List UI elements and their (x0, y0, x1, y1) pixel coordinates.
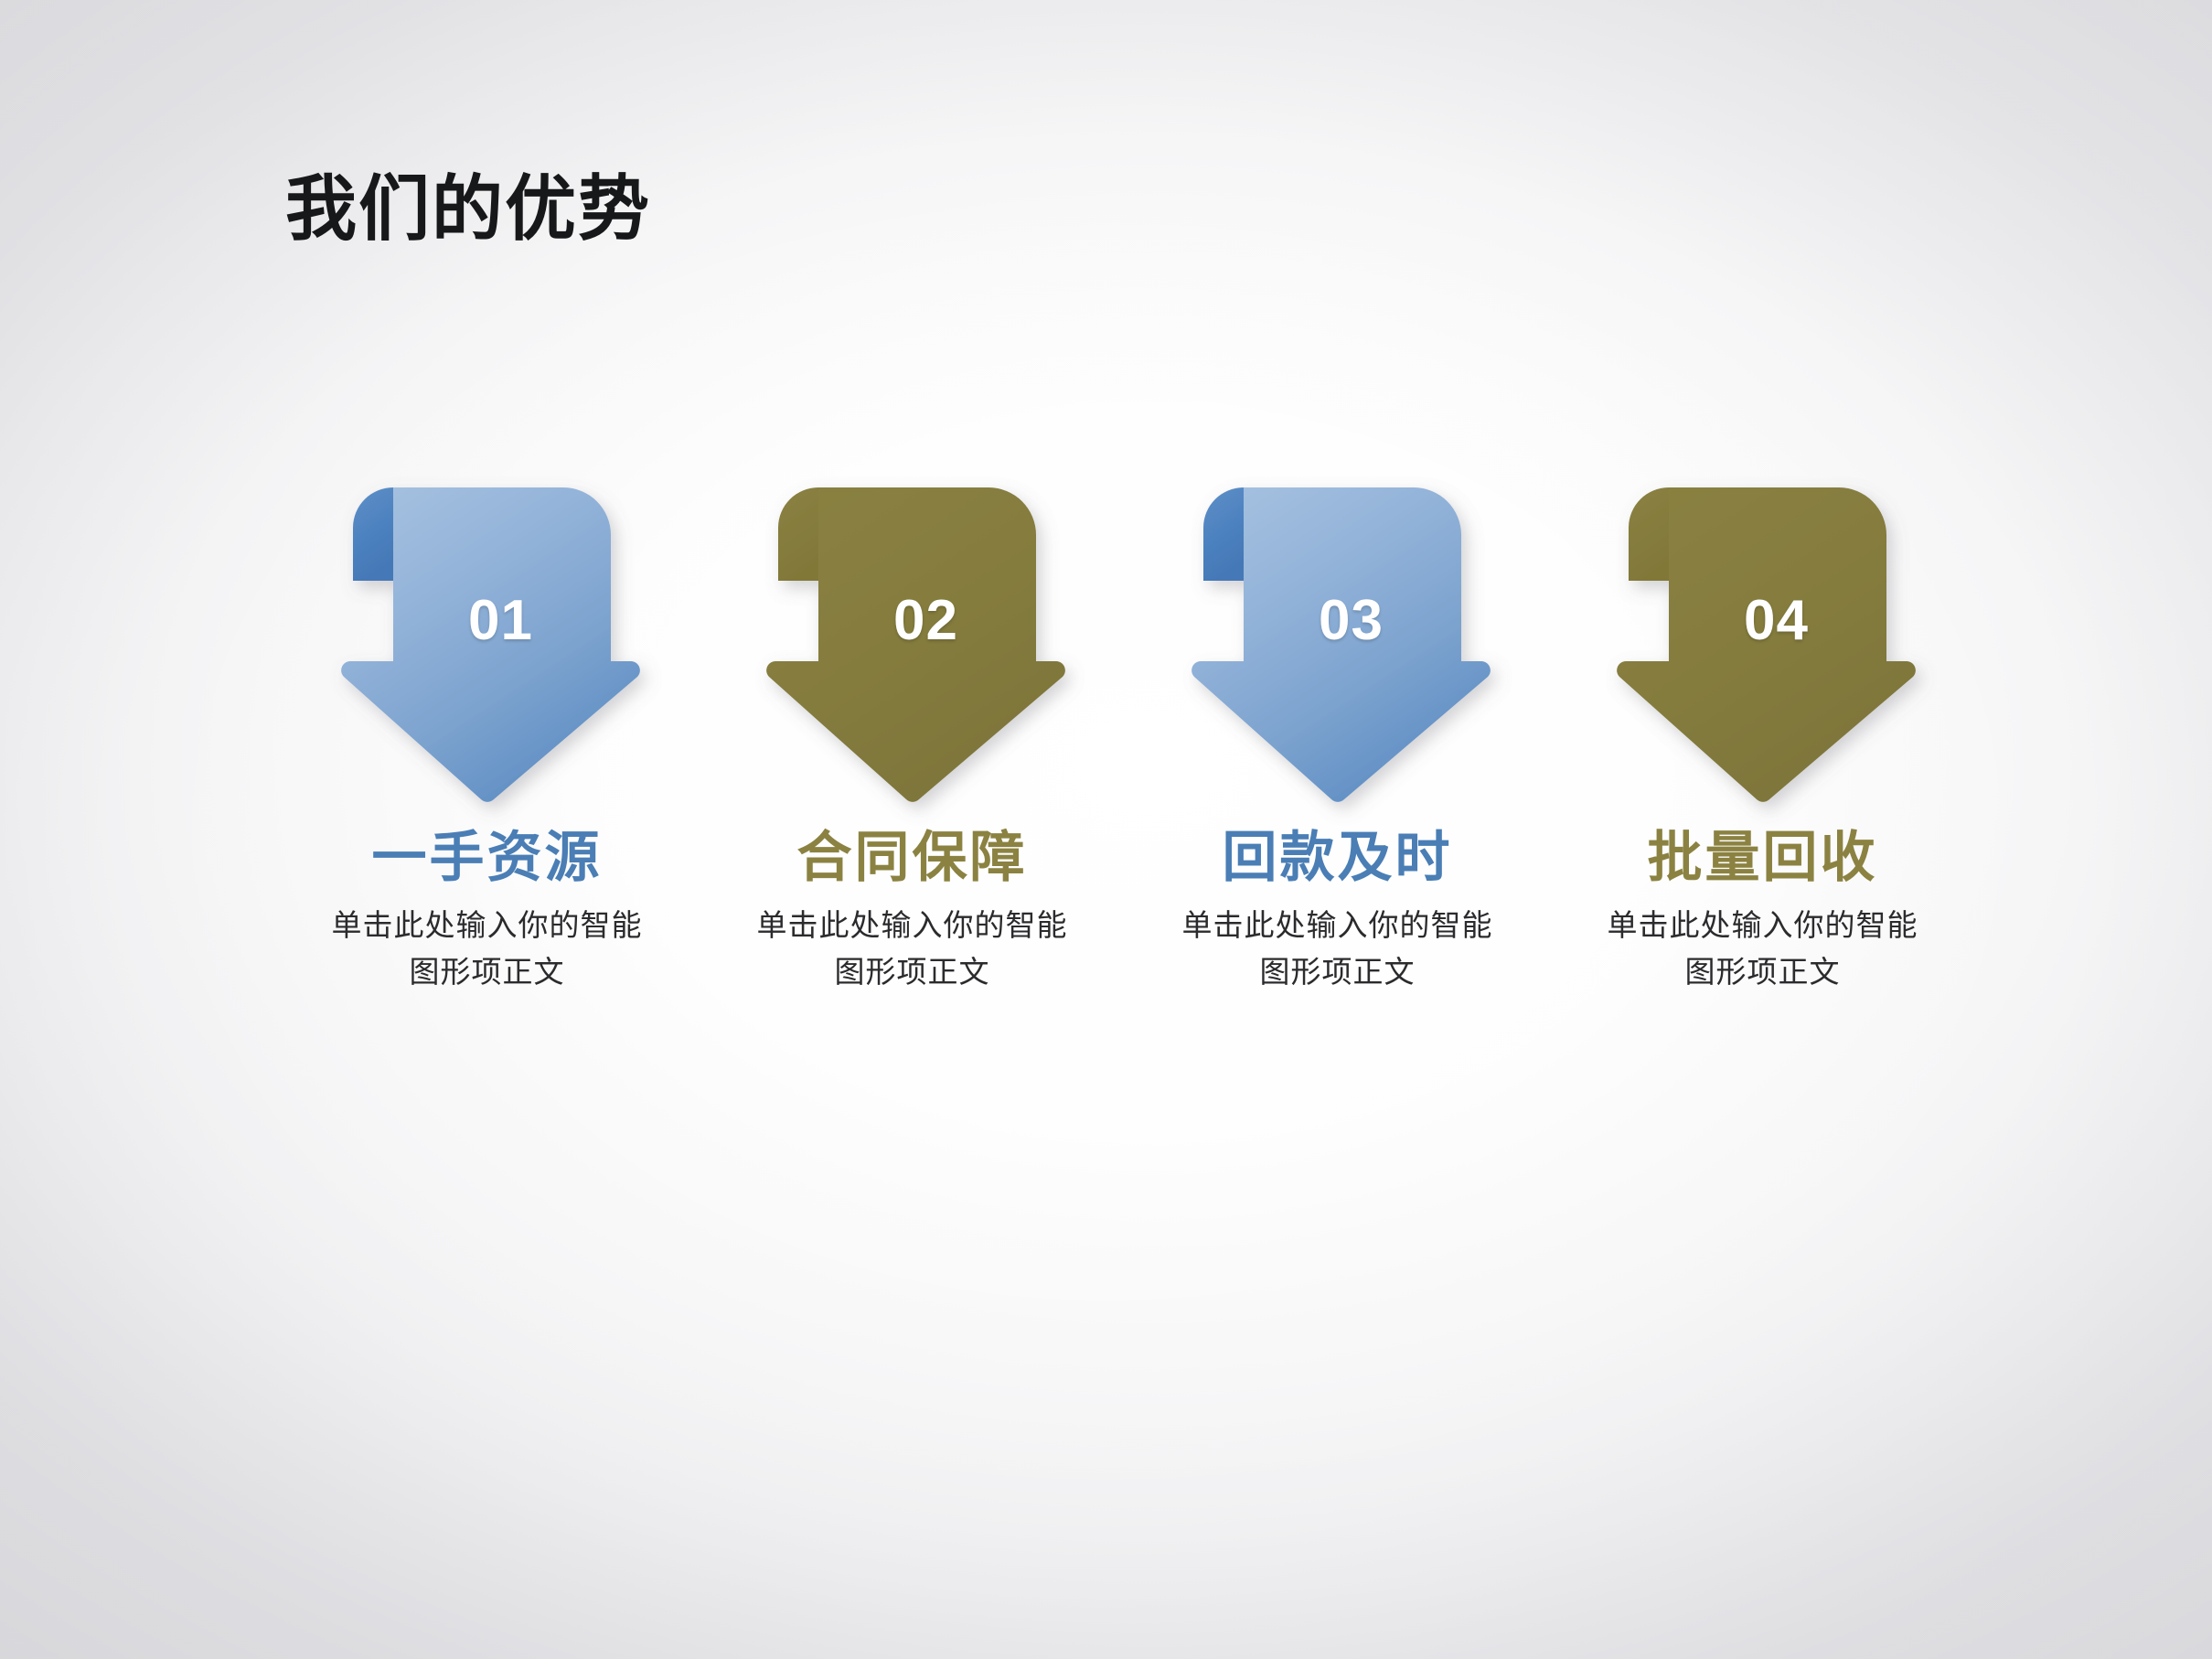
down-arrow-icon (1187, 480, 1489, 809)
arrow-graphic-04[interactable]: 04 (1612, 480, 1914, 809)
page-title: 我们的优势 (285, 174, 651, 245)
advantage-item-01[interactable]: 01 一手资源 单击此处输入你的智能 图形项正文 (274, 480, 700, 1139)
arrow-graphic-02[interactable]: 02 (762, 480, 1063, 809)
down-arrow-icon (337, 480, 638, 809)
advantage-body: 单击此处输入你的智能 图形项正文 (1155, 904, 1521, 997)
advantage-body-line1: 单击此处输入你的智能 (730, 904, 1095, 950)
advantage-heading: 批量回收 (1648, 829, 1878, 887)
arrow-graphic-01[interactable]: 01 (337, 480, 638, 809)
advantage-body-line1: 单击此处输入你的智能 (305, 904, 670, 950)
advantage-heading: 回款及时 (1223, 829, 1453, 887)
advantage-columns: 01 一手资源 单击此处输入你的智能 图形项正文 02 合同保障 (274, 480, 1975, 1139)
slide-canvas: 我们的优势 01 一手资源 单击此处输入你的智能 图形项正文 (0, 0, 2212, 1659)
down-arrow-icon (1612, 480, 1914, 809)
advantage-item-04[interactable]: 04 批量回收 单击此处输入你的智能 图形项正文 (1550, 480, 1975, 1139)
advantage-body: 单击此处输入你的智能 图形项正文 (1580, 904, 1946, 997)
down-arrow-icon (762, 480, 1063, 809)
advantage-body-line1: 单击此处输入你的智能 (1155, 904, 1521, 950)
advantage-body-line2: 图形项正文 (1580, 950, 1946, 997)
advantage-body-line2: 图形项正文 (305, 950, 670, 997)
advantage-body-line2: 图形项正文 (1155, 950, 1521, 997)
advantage-body-line1: 单击此处输入你的智能 (1580, 904, 1946, 950)
advantage-heading: 一手资源 (372, 829, 603, 887)
advantage-body: 单击此处输入你的智能 图形项正文 (730, 904, 1095, 997)
advantage-heading: 合同保障 (797, 829, 1028, 887)
advantage-body: 单击此处输入你的智能 图形项正文 (305, 904, 670, 997)
arrow-graphic-03[interactable]: 03 (1187, 480, 1489, 809)
advantage-item-02[interactable]: 02 合同保障 单击此处输入你的智能 图形项正文 (700, 480, 1125, 1139)
advantage-body-line2: 图形项正文 (730, 950, 1095, 997)
advantage-item-03[interactable]: 03 回款及时 单击此处输入你的智能 图形项正文 (1125, 480, 1550, 1139)
